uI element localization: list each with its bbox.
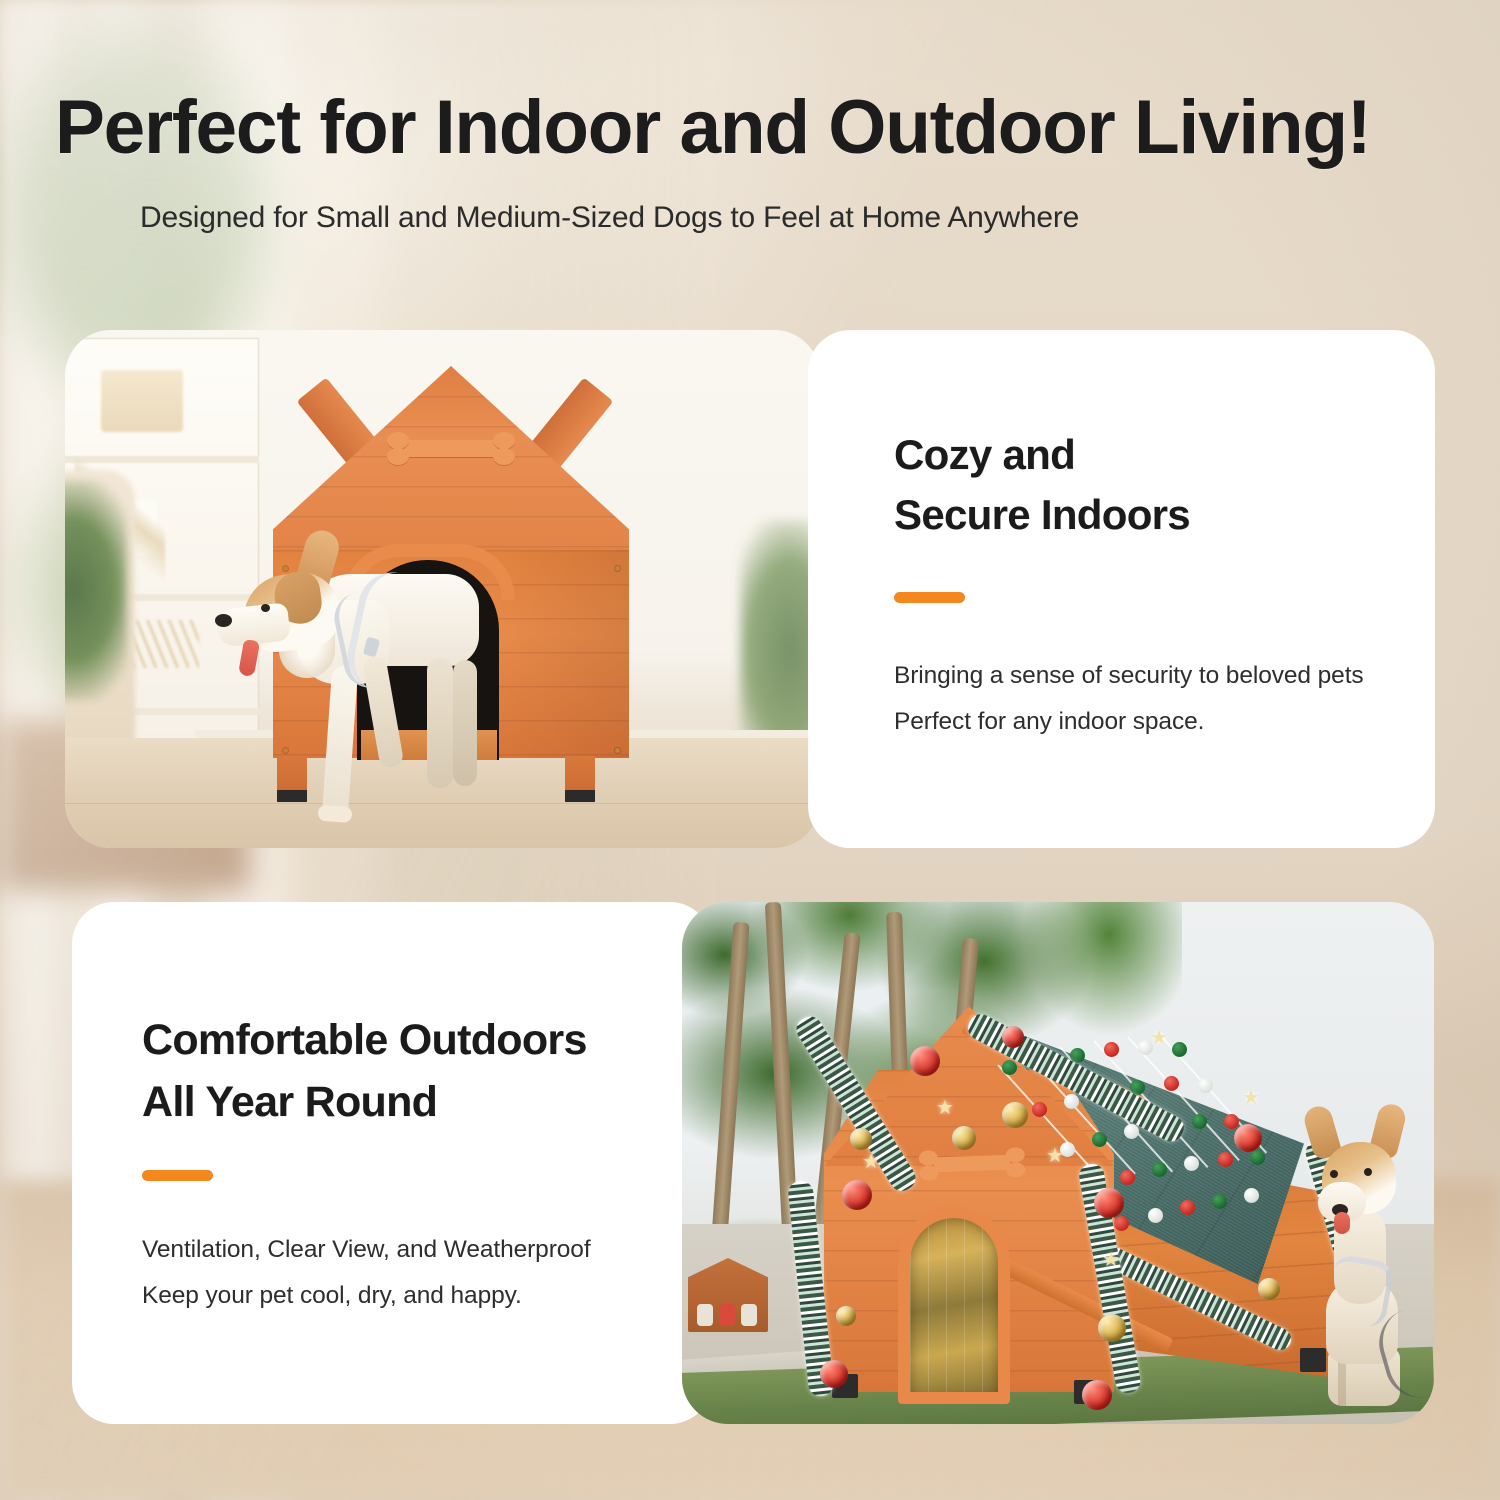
gold-bauble <box>836 1306 856 1326</box>
window-frame <box>898 1206 1010 1404</box>
plant-left <box>65 480 127 700</box>
bone-plaque-icon <box>385 430 517 467</box>
red-bauble <box>842 1180 872 1210</box>
red-bauble <box>1082 1380 1112 1410</box>
gold-star-icon: ★ <box>1150 1028 1168 1048</box>
gold-star-icon: ★ <box>1046 1146 1064 1166</box>
feature-title-indoor: Cozy and Secure Indoors <box>894 425 1364 546</box>
product-feature-page: Perfect for Indoor and Outdoor Living! D… <box>0 0 1500 1500</box>
feature-body-outdoor: Ventilation, Clear View, and Weatherproo… <box>142 1227 591 1319</box>
gold-star-icon: ★ <box>1242 1088 1260 1108</box>
gold-star-icon: ★ <box>1102 1250 1120 1270</box>
red-bauble <box>910 1046 940 1076</box>
bone-plaque-icon <box>917 1146 1026 1182</box>
product-photo-indoor <box>65 330 820 848</box>
gold-bauble <box>1002 1102 1028 1128</box>
accent-bar-outdoor <box>142 1170 213 1181</box>
dog-indoor <box>215 548 545 830</box>
red-bauble <box>1234 1124 1262 1152</box>
red-bauble <box>820 1360 848 1388</box>
shelf-jar <box>101 370 183 432</box>
leg-right <box>565 756 595 802</box>
gold-bauble <box>1098 1314 1126 1342</box>
feature-card-indoor: Cozy and Secure Indoors Bringing a sense… <box>808 330 1435 848</box>
gold-star-icon: ★ <box>936 1098 954 1118</box>
gold-bauble <box>952 1126 976 1150</box>
feature-body-indoor: Bringing a sense of security to beloved … <box>894 653 1364 745</box>
gold-star-icon: ★ <box>862 1152 880 1172</box>
accent-bar-indoor <box>894 592 965 603</box>
gold-bauble <box>850 1128 872 1150</box>
feature-title-outdoor: Comfortable Outdoors All Year Round <box>142 1010 591 1134</box>
page-title: Perfect for Indoor and Outdoor Living! <box>55 84 1370 171</box>
gold-bauble <box>1258 1278 1280 1300</box>
feature-card-outdoor: Comfortable Outdoors All Year Round Vent… <box>72 902 712 1424</box>
page-subtitle: Designed for Small and Medium-Sized Dogs… <box>140 201 1079 235</box>
red-bauble <box>1094 1188 1124 1218</box>
product-photo-outdoor: ★ ★ ★ ★ ★ ★ <box>682 902 1434 1424</box>
dog-outdoor <box>1278 1108 1434 1408</box>
red-bauble <box>1002 1026 1024 1048</box>
